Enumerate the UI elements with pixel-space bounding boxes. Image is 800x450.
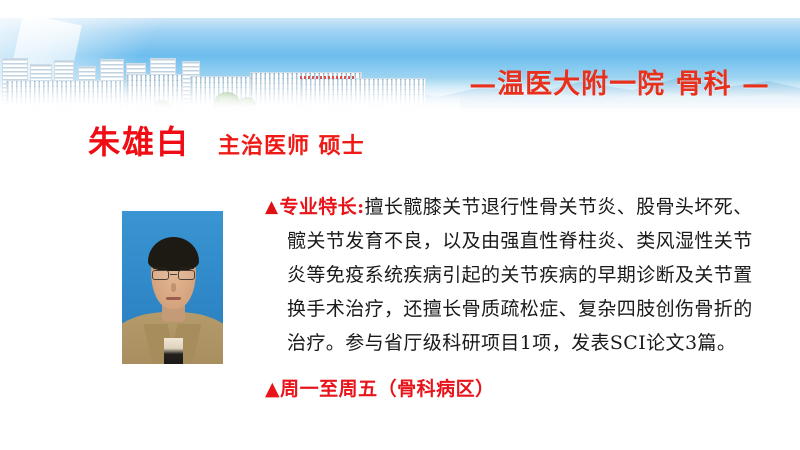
specialty-label: 专业特长: bbox=[279, 196, 364, 218]
specialty-line-4: 换手术治疗，还擅长骨质疏松症、复杂四肢创伤骨折的 bbox=[265, 292, 795, 326]
availability-text: 周一至周五（骨科病区） bbox=[280, 378, 495, 400]
doctor-portrait-photo bbox=[122, 211, 223, 364]
specialty-line-3: 炎等免疫系统疾病引起的关节疾病的早期诊断及关节置 bbox=[265, 258, 795, 292]
header-banner: —温医大附一院 骨科 — bbox=[0, 18, 800, 112]
doctor-name: 朱雄白 bbox=[88, 126, 190, 158]
triangle-bullet-icon: ▲ bbox=[265, 197, 278, 217]
slide-root: —温医大附一院 骨科 — 朱雄白 主治医师 硕士 ▲专业特长:擅长髋膝关节退行性… bbox=[0, 0, 800, 450]
portrait-eyebrow-left bbox=[153, 267, 167, 269]
portrait-nose bbox=[171, 283, 176, 292]
specialty-text-block: ▲专业特长:擅长髋膝关节退行性骨关节炎、股骨头坏死、 髋关节发育不良，以及由强直… bbox=[265, 190, 795, 360]
specialty-line-1-text: 擅长髋膝关节退行性骨关节炎、股骨头坏死、 bbox=[365, 196, 753, 218]
specialty-line-1: ▲专业特长:擅长髋膝关节退行性骨关节炎、股骨头坏死、 bbox=[265, 190, 795, 224]
availability-line: ▲周一至周五（骨科病区） bbox=[265, 374, 495, 401]
portrait-eyebrow-right bbox=[180, 267, 194, 269]
specialty-line-5: 治疗。参与省厅级科研项目1项，发表SCI论文3篇。 bbox=[265, 326, 795, 360]
banner-title: —温医大附一院 骨科 — bbox=[469, 62, 770, 101]
glasses-icon bbox=[151, 270, 196, 281]
portrait-mouth bbox=[166, 297, 181, 300]
triangle-bullet-icon-availability: ▲ bbox=[265, 378, 280, 400]
doctor-name-row: 朱雄白 主治医师 硕士 bbox=[88, 126, 365, 158]
doctor-title: 主治医师 硕士 bbox=[218, 135, 365, 157]
specialty-line-2: 髋关节发育不良，以及由强直性脊柱炎、类风湿性关节 bbox=[265, 224, 795, 258]
portrait-shirt bbox=[164, 338, 183, 364]
